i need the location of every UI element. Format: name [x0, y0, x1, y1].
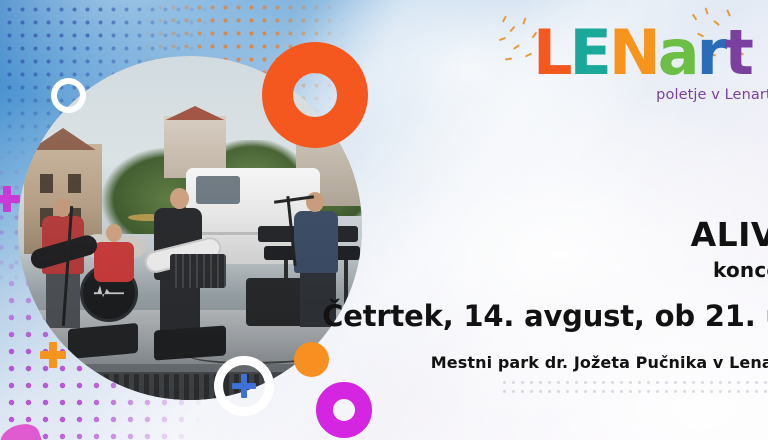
donut-orange-icon [262, 42, 368, 148]
event-venue: Mestni park dr. Jožeta Pučnika v Lenartu [300, 353, 768, 372]
logo-tagline: poletje v Lenartu [533, 87, 768, 103]
event-poster: LENart poletje v Lenartu ALIVE koncert Č… [0, 0, 768, 440]
event-details: ALIVE koncert Četrtek, 14. avgust, ob 21… [300, 218, 768, 372]
lenart-logo[interactable]: LENart poletje v Lenartu [533, 22, 768, 103]
plus-orange-icon [40, 342, 66, 368]
logo-letter-a: a [658, 22, 697, 84]
donut-magenta-icon [316, 382, 372, 438]
logo-letter-t: t [724, 22, 751, 84]
event-title: ALIVE [300, 218, 768, 253]
plus-blue-icon [232, 374, 256, 398]
logo-letter-l: L [533, 22, 570, 84]
logo-wordmark: LENart [533, 22, 768, 84]
plus-magenta-icon [0, 186, 20, 212]
event-subtitle: koncert [300, 258, 768, 282]
logo-letter-r: r [697, 22, 725, 84]
logo-letter-e: E [570, 22, 609, 84]
event-date: Četrtek, 14. avgust, ob 21. ur [300, 299, 768, 333]
logo-letter-n: N [609, 22, 658, 84]
ring-white-icon [51, 78, 86, 113]
halftone-dots-grey-icon [500, 378, 768, 394]
